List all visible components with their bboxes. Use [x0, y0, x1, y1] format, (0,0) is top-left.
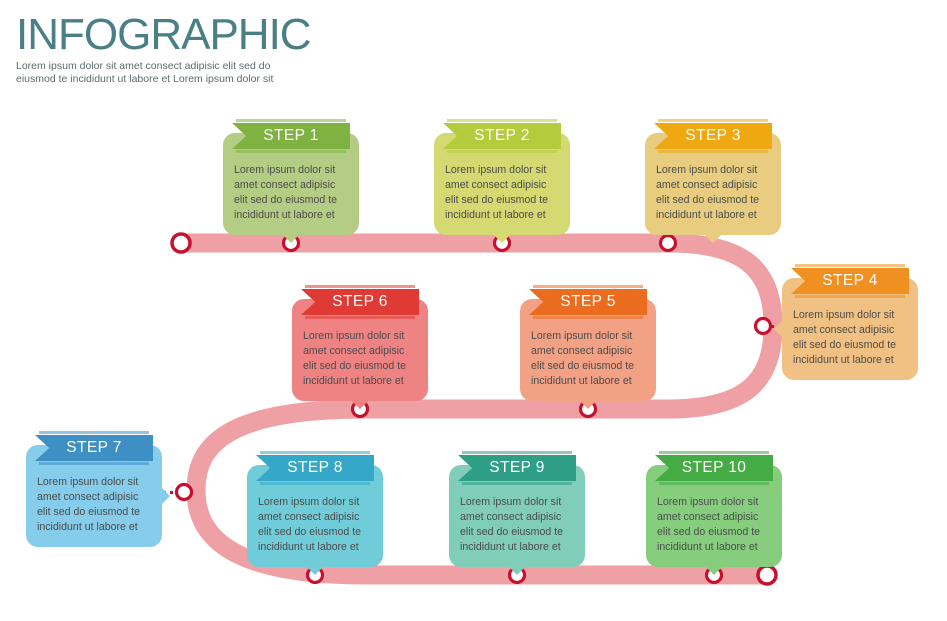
step-label: STEP 10 — [682, 460, 747, 476]
step-label: STEP 1 — [263, 128, 319, 144]
card-tail — [493, 234, 511, 243]
step-label: STEP 5 — [560, 294, 616, 310]
step-ribbon-4: STEP 4 — [791, 264, 909, 298]
ribbon-strip-top — [260, 451, 370, 454]
card-tail — [704, 234, 722, 243]
step-card-4[interactable]: STEP 4 Lorem ipsum dolor sit amet consec… — [782, 278, 918, 380]
card-tail — [351, 400, 369, 409]
step-label: STEP 3 — [685, 128, 741, 144]
step-label: STEP 2 — [474, 128, 530, 144]
card-tail — [705, 566, 723, 575]
step-body-text: Lorem ipsum dolor sit amet consect adipi… — [445, 163, 559, 223]
ribbon-strip-bottom — [305, 316, 415, 319]
ribbon-strip-bottom — [236, 150, 346, 153]
step-ribbon-3: STEP 3 — [654, 119, 772, 153]
road-marker-start — [172, 234, 190, 252]
ribbon-strip-top — [236, 119, 346, 122]
ribbon-strip-bottom — [659, 482, 769, 485]
card-tail — [306, 566, 324, 575]
step-card-9[interactable]: STEP 9 Lorem ipsum dolor sit amet consec… — [449, 465, 585, 567]
road-marker-end — [758, 566, 776, 584]
step-body-text: Lorem ipsum dolor sit amet consect adipi… — [793, 308, 907, 368]
ribbon-banner: STEP 6 — [301, 289, 419, 315]
step-ribbon-1: STEP 1 — [232, 119, 350, 153]
card-tail — [579, 400, 597, 409]
step-card-1[interactable]: STEP 1 Lorem ipsum dolor sit amet consec… — [223, 133, 359, 235]
ribbon-banner: STEP 2 — [443, 123, 561, 149]
ribbon-strip-top — [39, 431, 149, 434]
step-body-text: Lorem ipsum dolor sit amet consect adipi… — [234, 163, 348, 223]
ribbon-strip-bottom — [658, 150, 768, 153]
ribbon-strip-bottom — [447, 150, 557, 153]
step-ribbon-10: STEP 10 — [655, 451, 773, 485]
ribbon-strip-top — [659, 451, 769, 454]
step-card-8[interactable]: STEP 8 Lorem ipsum dolor sit amet consec… — [247, 465, 383, 567]
ribbon-banner: STEP 3 — [654, 123, 772, 149]
step-body-text: Lorem ipsum dolor sit amet consect adipi… — [657, 495, 771, 555]
step-ribbon-7: STEP 7 — [35, 431, 153, 465]
step-card-5[interactable]: STEP 5 Lorem ipsum dolor sit amet consec… — [520, 299, 656, 401]
ribbon-strip-top — [447, 119, 557, 122]
step-label: STEP 7 — [66, 440, 122, 456]
ribbon-banner: STEP 1 — [232, 123, 350, 149]
step-body-text: Lorem ipsum dolor sit amet consect adipi… — [531, 329, 645, 389]
road-marker-step-4 — [756, 319, 771, 334]
ribbon-strip-top — [533, 285, 643, 288]
ribbon-strip-bottom — [462, 482, 572, 485]
ribbon-banner: STEP 9 — [458, 455, 576, 481]
ribbon-strip-top — [658, 119, 768, 122]
ribbon-strip-bottom — [795, 295, 905, 298]
road-marker-step-3 — [661, 236, 676, 251]
ribbon-banner: STEP 7 — [35, 435, 153, 461]
step-ribbon-9: STEP 9 — [458, 451, 576, 485]
step-card-3[interactable]: STEP 3 Lorem ipsum dolor sit amet consec… — [645, 133, 781, 235]
ribbon-banner: STEP 4 — [791, 268, 909, 294]
step-label: STEP 8 — [287, 460, 343, 476]
step-card-2[interactable]: STEP 2 Lorem ipsum dolor sit amet consec… — [434, 133, 570, 235]
step-ribbon-2: STEP 2 — [443, 119, 561, 153]
step-body-text: Lorem ipsum dolor sit amet consect adipi… — [460, 495, 574, 555]
ribbon-banner: STEP 5 — [529, 289, 647, 315]
step-card-10[interactable]: STEP 10 Lorem ipsum dolor sit amet conse… — [646, 465, 782, 567]
card-tail — [161, 487, 170, 505]
step-body-text: Lorem ipsum dolor sit amet consect adipi… — [303, 329, 417, 389]
infographic-canvas: INFOGRAPHIC Lorem ipsum dolor sit amet c… — [0, 0, 947, 621]
ribbon-strip-top — [462, 451, 572, 454]
step-ribbon-8: STEP 8 — [256, 451, 374, 485]
ribbon-strip-bottom — [533, 316, 643, 319]
card-tail — [508, 566, 526, 575]
ribbon-banner: STEP 10 — [655, 455, 773, 481]
step-card-7[interactable]: STEP 7 Lorem ipsum dolor sit amet consec… — [26, 445, 162, 547]
ribbon-strip-bottom — [39, 462, 149, 465]
ribbon-strip-top — [795, 264, 905, 267]
step-label: STEP 4 — [822, 273, 878, 289]
ribbon-strip-bottom — [260, 482, 370, 485]
road-marker-step-7 — [177, 485, 192, 500]
card-tail — [282, 234, 300, 243]
step-body-text: Lorem ipsum dolor sit amet consect adipi… — [656, 163, 770, 223]
step-label: STEP 9 — [489, 460, 545, 476]
step-ribbon-5: STEP 5 — [529, 285, 647, 319]
step-body-text: Lorem ipsum dolor sit amet consect adipi… — [37, 475, 151, 535]
ribbon-strip-top — [305, 285, 415, 288]
step-ribbon-6: STEP 6 — [301, 285, 419, 319]
card-tail — [774, 320, 783, 338]
ribbon-banner: STEP 8 — [256, 455, 374, 481]
step-card-6[interactable]: STEP 6 Lorem ipsum dolor sit amet consec… — [292, 299, 428, 401]
step-body-text: Lorem ipsum dolor sit amet consect adipi… — [258, 495, 372, 555]
step-label: STEP 6 — [332, 294, 388, 310]
